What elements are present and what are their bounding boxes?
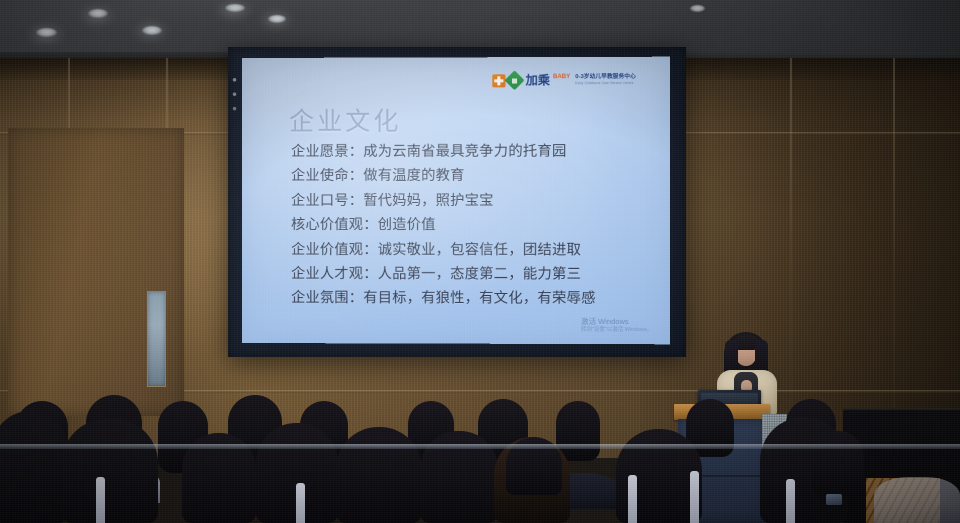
screen-bezel-indicators xyxy=(232,75,237,115)
ceiling-downlight xyxy=(142,26,162,35)
logo-cross-icon xyxy=(492,74,505,87)
slide-line-vision: 企业愿景：成为云南省最具竞争力的托育园 xyxy=(291,139,646,164)
door-vision-panel xyxy=(147,291,166,387)
conference-room-photo: 加乘 BABY 0-3岁幼儿早教服务中心 Early Childhood Car… xyxy=(0,0,960,523)
uniform-sash xyxy=(628,475,637,523)
logo-brand-name: 加乘 xyxy=(526,74,550,86)
uniform-sash xyxy=(690,471,699,523)
ceiling-downlight xyxy=(268,15,286,23)
presentation-slide[interactable]: 加乘 BABY 0-3岁幼儿早教服务中心 Early Childhood Car… xyxy=(242,57,670,345)
logo-tagline-cn: 0-3岁幼儿早教服务中心 xyxy=(575,75,636,81)
slide-title: 企业文化 xyxy=(289,102,401,138)
mobile-phone[interactable] xyxy=(826,494,842,505)
logo-diamond-icon xyxy=(505,70,525,90)
uniform-sash xyxy=(296,483,305,523)
ceiling-downlight xyxy=(36,28,57,37)
side-door[interactable] xyxy=(8,128,184,416)
logo-tagline-group: 0-3岁幼儿早教服务中心 Early Childhood Care Servic… xyxy=(575,75,636,85)
audience-seating xyxy=(0,392,960,523)
audience-head xyxy=(812,431,864,497)
watermark-line-2: 转到"设置"以激活 Windows。 xyxy=(581,327,652,335)
slide-line-mission: 企业使命：做有温度的教育 xyxy=(291,164,646,189)
windows-activation-watermark: 激活 Windows 转到"设置"以激活 Windows。 xyxy=(581,317,652,335)
company-logo: 加乘 BABY 0-3岁幼儿早教服务中心 Early Childhood Car… xyxy=(492,73,636,87)
logo-baby-badge: BABY xyxy=(553,74,570,80)
audience-head xyxy=(62,419,158,523)
slide-line-atmosphere: 企业氛围：有目标，有狼性，有文化，有荣辱感 xyxy=(291,287,646,312)
ceiling-downlight xyxy=(225,4,245,12)
uniform-sash xyxy=(96,477,105,523)
audience-head xyxy=(0,411,68,523)
watermark-line-1: 激活 Windows xyxy=(581,317,652,327)
audience-head xyxy=(336,427,422,523)
ceiling-downlight xyxy=(690,5,705,12)
slide-line-values: 企业价值观：诚实敬业，包容信任，团结进取 xyxy=(291,238,646,263)
logo-tagline-en: Early Childhood Care Service Centre xyxy=(575,82,636,85)
audience-shoulders xyxy=(874,477,960,523)
slide-body: 企业愿景：成为云南省最具竞争力的托育园 企业使命：做有温度的教育 企业口号：暂代… xyxy=(291,139,646,311)
uniform-sash xyxy=(786,479,795,523)
slide-line-slogan: 企业口号：暂代妈妈，照护宝宝 xyxy=(291,189,646,214)
slide-line-talent-view: 企业人才观：人品第一，态度第二，能力第三 xyxy=(291,262,646,287)
desk-rail xyxy=(0,444,960,449)
slide-line-core-values: 核心价值观：创造价值 xyxy=(291,213,646,238)
ceiling-downlight xyxy=(88,9,108,18)
